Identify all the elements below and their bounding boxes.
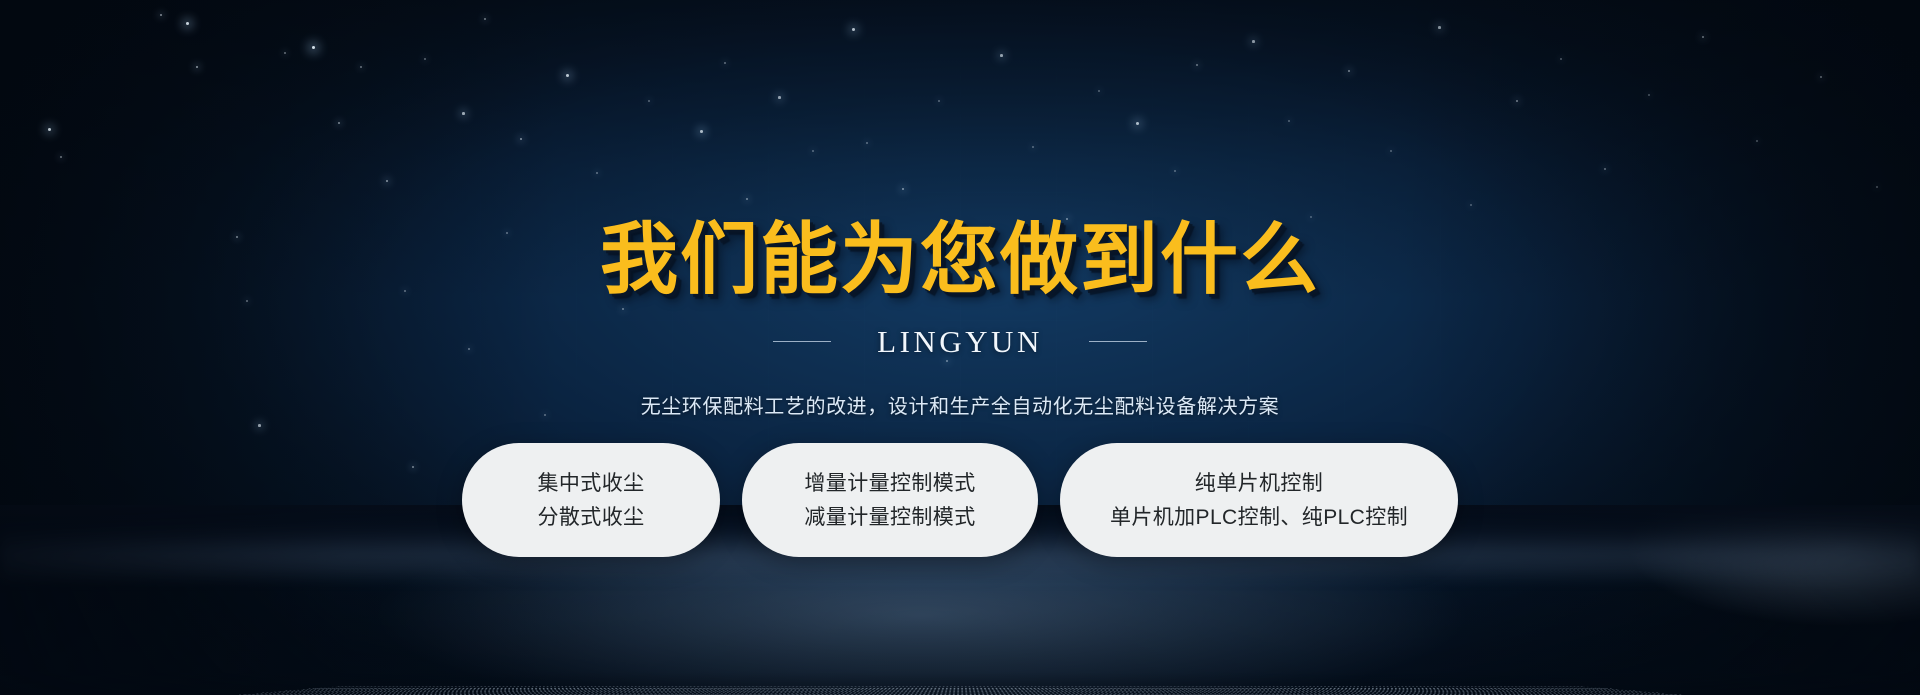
divider-right (1089, 341, 1147, 342)
feature-card-metering-mode[interactable]: 增量计量控制模式 减量计量控制模式 (742, 443, 1038, 557)
hero-banner: 我们能为您做到什么 LINGYUN 无尘环保配料工艺的改进，设计和生产全自动化无… (0, 0, 1920, 695)
card-line: 减量计量控制模式 (804, 507, 975, 528)
brand-row: LINGYUN (0, 326, 1920, 357)
divider-left (773, 341, 831, 342)
feature-card-control-system[interactable]: 纯单片机控制 单片机加PLC控制、纯PLC控制 (1060, 443, 1458, 557)
card-line: 增量计量控制模式 (804, 473, 975, 494)
tagline: 无尘环保配料工艺的改进，设计和生产全自动化无尘配料设备解决方案 (0, 390, 1920, 419)
page-title: 我们能为您做到什么 (0, 221, 1920, 299)
brand-name: LINGYUN (877, 326, 1043, 357)
card-line: 集中式收尘 (538, 473, 645, 494)
card-line: 分散式收尘 (538, 507, 645, 528)
feature-card-list: 集中式收尘 分散式收尘 增量计量控制模式 减量计量控制模式 纯单片机控制 单片机… (0, 443, 1920, 557)
banner-content: 我们能为您做到什么 LINGYUN 无尘环保配料工艺的改进，设计和生产全自动化无… (0, 0, 1920, 695)
feature-card-dust-collection[interactable]: 集中式收尘 分散式收尘 (462, 443, 720, 557)
card-line: 纯单片机控制 (1195, 473, 1323, 494)
card-line: 单片机加PLC控制、纯PLC控制 (1110, 507, 1408, 528)
